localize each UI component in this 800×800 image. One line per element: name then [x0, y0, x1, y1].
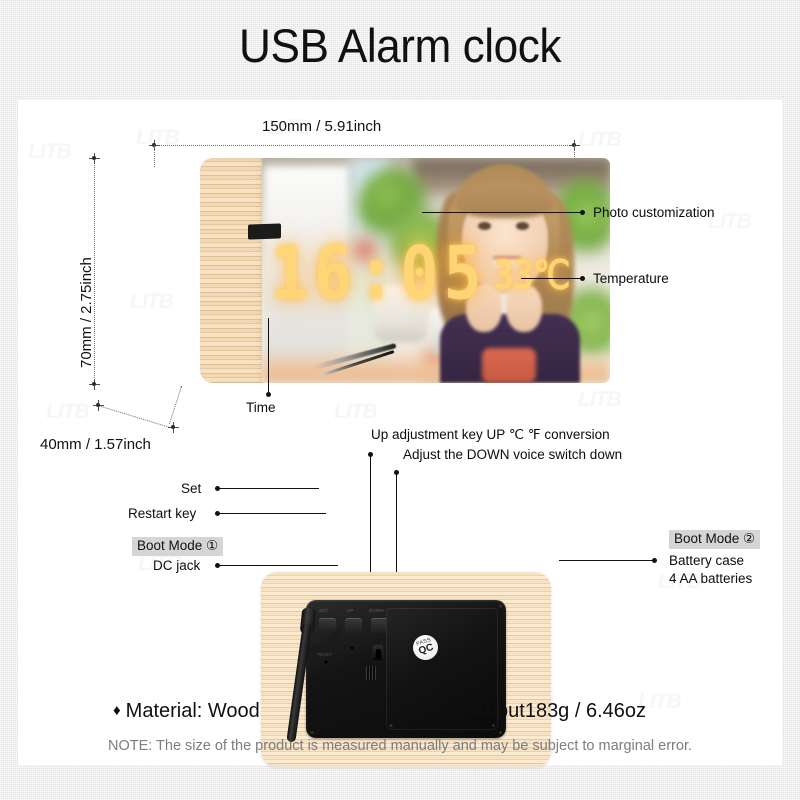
down-button-caption: DOWN: [369, 608, 384, 613]
photo-callout-label: Photo customization: [593, 205, 715, 220]
material-spec-label: Material: Wood: [126, 700, 260, 722]
child-mouth: [492, 256, 522, 271]
wood-side-panel: [200, 158, 268, 383]
boot-mode-1-chip: Boot Mode ①: [132, 537, 223, 556]
height-dimension-dot-top: [92, 156, 96, 160]
photo-window: [264, 166, 350, 376]
dc-jack-socket[interactable]: [372, 644, 384, 662]
width-extension-left: [154, 145, 155, 167]
note-text: NOTE: The size of the product is measure…: [18, 738, 782, 754]
speaker-grille-icon: [366, 666, 376, 680]
battery-callout-line: [559, 560, 654, 561]
temperature-callout-label: Temperature: [593, 271, 669, 286]
panel-screw: [499, 604, 503, 608]
reset-caption: RESET: [318, 652, 332, 657]
dc-jack-callout-line: [218, 565, 338, 566]
up-button-caption: UP: [347, 608, 354, 613]
front-view: 150mm / 5.91inch 70mm / 2.75inch 40mm / …: [18, 100, 782, 430]
photo-accent: [348, 230, 382, 270]
depth-dimension-line: [98, 405, 173, 429]
child-eye-left: [478, 222, 491, 230]
set-button-caption: SET: [319, 608, 328, 613]
depth-dimension-dot-right: [171, 425, 175, 429]
weight-spec: ♦Weight: About183g / 6.46oz: [388, 700, 646, 723]
photo-display-face: 16:05 33℃: [262, 158, 610, 383]
footer: ♦Material: Wood ♦Weight: About183g / 6.4…: [18, 690, 782, 765]
temperature-callout-dot: [580, 276, 585, 281]
sensor-bar: [248, 223, 281, 239]
depth-extension-right: [169, 386, 182, 424]
child-collar: [482, 348, 536, 383]
diamond-bullet-icon: ♦: [113, 702, 121, 719]
up-button[interactable]: [345, 618, 362, 633]
photo-child-portrait: [430, 164, 590, 383]
restart-callout-line: [218, 513, 326, 514]
dc-jack-callout-label: DC jack: [153, 558, 200, 573]
depth-dimension-dot-left: [96, 403, 100, 407]
photo-flower-pot: [374, 286, 428, 342]
battery-callout-dot: [652, 558, 657, 563]
height-dimension-label: 70mm / 2.75inch: [78, 257, 95, 368]
child-hand-right: [506, 284, 542, 332]
time-callout-label: Time: [246, 400, 276, 415]
restart-callout-label: Restart key: [128, 506, 196, 521]
content-card: LITB LITB LITB LITB LITB LITB LITB LITB …: [18, 100, 782, 765]
child-hand-left: [466, 284, 502, 332]
battery-count-callout-label: 4 AA batteries: [669, 571, 752, 586]
up-key-callout-label: Up adjustment key UP ℃ ℉ conversion: [371, 427, 610, 443]
secondary-pinhole: [324, 660, 328, 664]
photo-callout-dot: [580, 210, 585, 215]
width-dimension-line: [154, 145, 574, 146]
down-key-callout-line: [396, 474, 397, 574]
screw-hole: [350, 646, 354, 650]
battery-case-callout-label: Battery case: [669, 553, 744, 568]
panel-screw: [310, 604, 314, 608]
set-callout-line: [218, 488, 319, 489]
boot-mode-2-chip: Boot Mode ②: [669, 530, 760, 549]
material-spec: ♦Material: Wood: [113, 700, 260, 723]
temperature-callout-line: [521, 278, 582, 279]
qc-label-text: QC: [418, 643, 435, 657]
time-callout-line: [268, 318, 269, 394]
set-callout-label: Set: [181, 481, 201, 496]
pass-qc-sticker: PASS QC: [410, 632, 442, 664]
page-title: USB Alarm clock: [24, 18, 776, 73]
height-dimension-dot-bottom: [92, 382, 96, 386]
time-callout-dot: [266, 392, 271, 397]
weight-spec-label: Weight: About183g / 6.46oz: [401, 700, 646, 722]
photo-callout-line: [422, 212, 582, 213]
up-key-callout-line: [370, 456, 371, 574]
down-key-callout-label: Adjust the DOWN voice switch down: [403, 447, 622, 462]
clock-front-view: 16:05 33℃: [200, 158, 610, 383]
child-eye-right: [516, 222, 529, 230]
diamond-bullet-icon: ♦: [388, 702, 396, 719]
width-dimension-label: 150mm / 5.91inch: [262, 118, 381, 135]
